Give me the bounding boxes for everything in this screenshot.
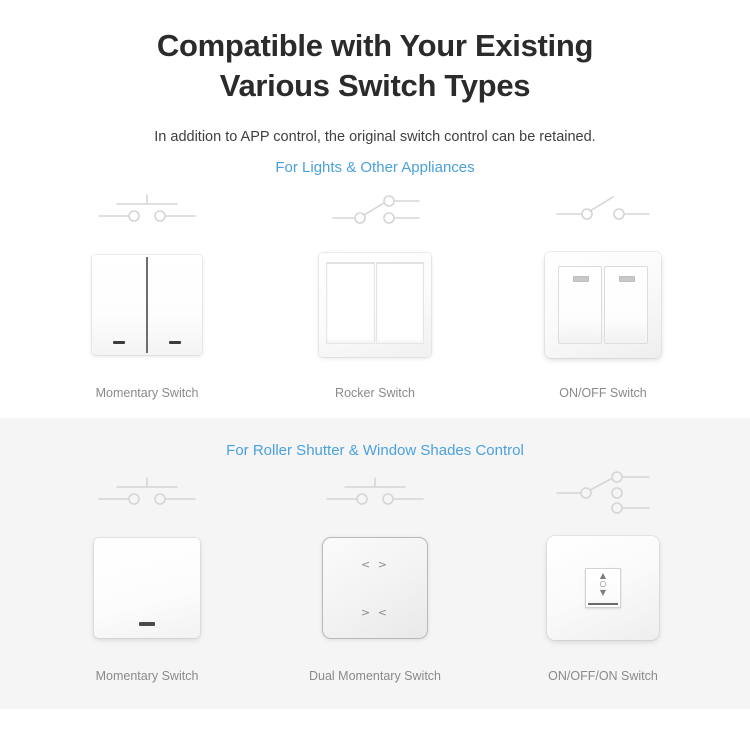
keypad-base-bar: [588, 603, 618, 605]
page-header: Compatible with Your Existing Various Sw…: [0, 0, 750, 145]
led-indicator-left: [573, 276, 589, 282]
rocker-paddle-right: [376, 262, 425, 344]
switch-label: ON/OFF/ON Switch: [548, 669, 658, 683]
switch-card-momentary: Momentary Switch: [33, 186, 261, 400]
two-gang-rocker-switch: [319, 238, 431, 373]
switch-card-momentary-single: Momentary Switch: [33, 469, 261, 683]
switch-label: Dual Momentary Switch: [309, 669, 441, 683]
switch-divider: [146, 257, 148, 353]
switch-card-rocker: Rocker Switch: [261, 186, 489, 400]
down-arrow-icon: ▼: [586, 589, 620, 597]
onoff-paddle-left: [558, 266, 602, 344]
page-title: Compatible with Your Existing Various Sw…: [65, 26, 685, 107]
page-title-line-2: Various Switch Types: [65, 66, 685, 106]
switch-label: Momentary Switch: [96, 669, 199, 683]
push-button-symbol: [321, 469, 429, 517]
page-title-line-1: Compatible with Your Existing: [65, 26, 685, 66]
switch-card-onoffon: ▲ ○ ▼ ON/OFF/ON Switch: [489, 469, 717, 683]
switch-row-lights: Momentary Switch: [0, 186, 750, 400]
three-position-switch-symbol: [549, 469, 657, 517]
onoff-paddle-right: [604, 266, 648, 344]
led-indicator-right: [619, 276, 635, 282]
push-button-symbol: [93, 469, 201, 517]
spst-open-switch-symbol: [549, 186, 657, 234]
switch-label: Rocker Switch: [335, 386, 415, 400]
single-gang-momentary-switch: [94, 521, 200, 656]
led-indicator-right: [169, 341, 181, 344]
two-gang-momentary-switch: [92, 238, 202, 373]
shutter-keypad: ▲ ○ ▼: [585, 568, 621, 608]
switch-label: Momentary Switch: [96, 386, 199, 400]
switch-card-onoff: ON/OFF Switch: [489, 186, 717, 400]
two-gang-onoff-switch: [545, 238, 661, 373]
led-indicator: [139, 622, 155, 626]
close-arrows-glyph: > <: [323, 606, 427, 619]
dual-momentary-switch: < > > <: [322, 521, 428, 656]
led-indicator-left: [113, 341, 125, 344]
page-subtitle: In addition to APP control, the original…: [0, 129, 750, 145]
push-button-symbol: [93, 186, 201, 234]
open-arrows-glyph: < >: [323, 558, 427, 571]
switch-row-roller-shutter: Momentary Switch: [0, 469, 750, 683]
onoffon-rocker-switch: ▲ ○ ▼: [547, 521, 659, 656]
section-heading-roller-shutter: For Roller Shutter & Window Shades Contr…: [0, 442, 750, 459]
product-infographic: Compatible with Your Existing Various Sw…: [0, 0, 750, 750]
changeover-switch-symbol: [321, 186, 429, 234]
section-lights: For Lights & Other Appliances: [0, 145, 750, 418]
rocker-paddle-left: [326, 262, 375, 344]
switch-label: ON/OFF Switch: [559, 386, 647, 400]
section-roller-shutter: For Roller Shutter & Window Shades Contr…: [0, 418, 750, 709]
switch-card-dual-momentary: < > > < Dual Momentary Switch: [261, 469, 489, 683]
section-heading-lights: For Lights & Other Appliances: [0, 159, 750, 176]
